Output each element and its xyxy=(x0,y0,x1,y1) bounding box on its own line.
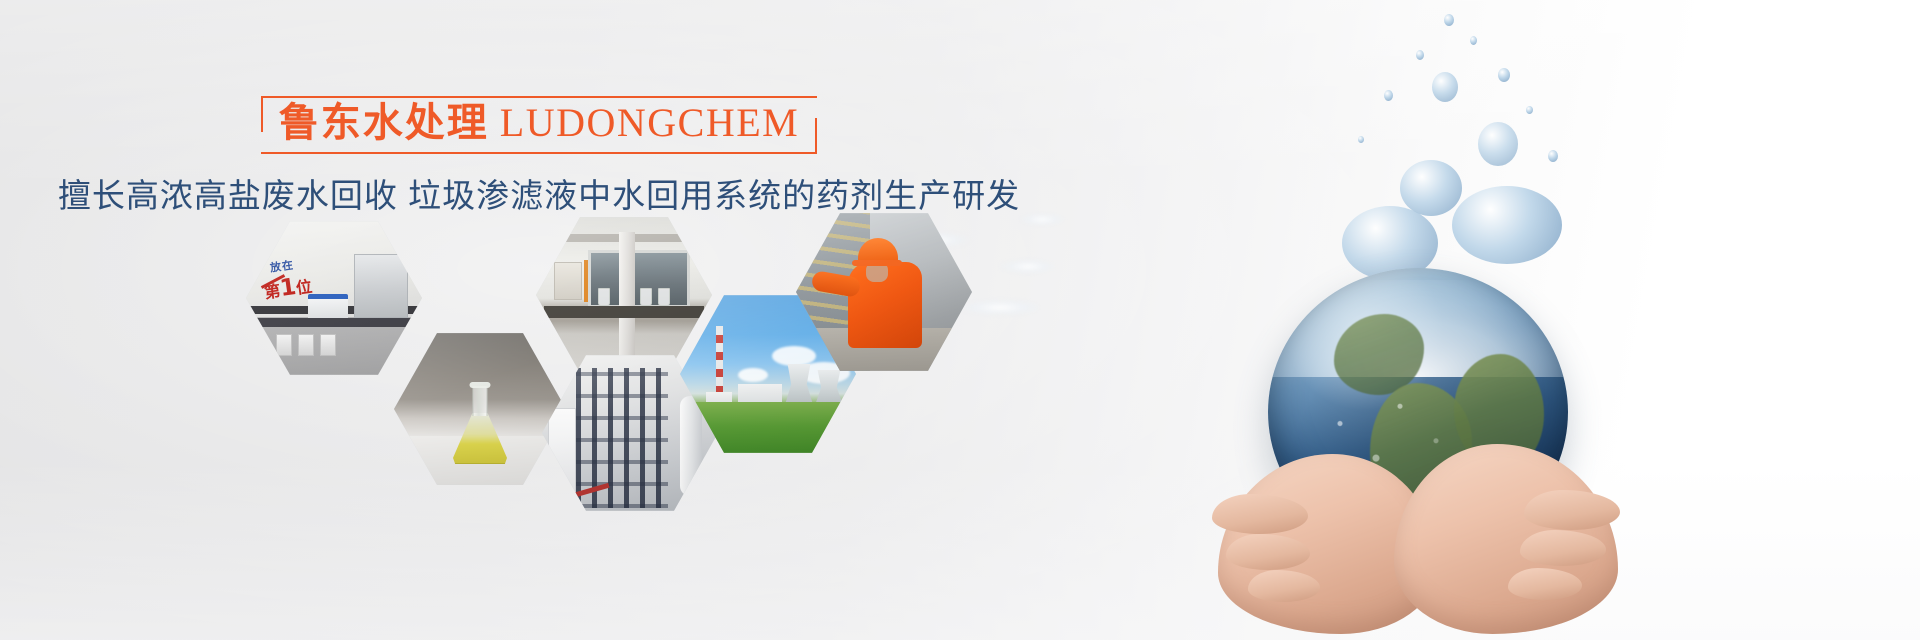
water-droplet xyxy=(1548,150,1558,162)
water-droplet xyxy=(1470,36,1477,45)
title-rule-top xyxy=(285,96,817,98)
cupped-hands xyxy=(1208,430,1628,640)
water-droplet xyxy=(1384,90,1393,101)
lab-bench-photo xyxy=(536,214,712,376)
flask-lip xyxy=(470,382,491,388)
water-droplet xyxy=(1498,68,1510,82)
banner-subtitle: 擅长高浓高盐废水回收 垃圾渗滤液中水回用系统的药剂生产研发 xyxy=(0,176,1078,216)
hexagon-photo-cluster: 放在 第1位 xyxy=(240,218,960,518)
lab-cabinet xyxy=(354,254,408,318)
hero-banner: 鲁东水处理 LUDONGCHEM 擅长高浓高盐废水回收 垃圾渗滤液中水回用系统的… xyxy=(0,0,1920,640)
water-droplet xyxy=(1358,136,1364,143)
lab-cabinet xyxy=(554,262,582,300)
smokestack xyxy=(716,326,723,392)
water-droplet xyxy=(1416,50,1424,60)
lab-stand xyxy=(584,260,588,302)
water-droplet xyxy=(1526,106,1533,114)
lab-jar xyxy=(276,334,292,356)
lab-glassware xyxy=(658,288,670,306)
title-rule-bottom xyxy=(261,152,793,154)
water-droplet xyxy=(1432,72,1458,102)
helmet-brim xyxy=(852,260,902,266)
brand-title-frame: 鲁东水处理 LUDONGCHEM xyxy=(261,96,817,154)
flask-photo xyxy=(394,330,566,488)
steam-cloud xyxy=(738,368,768,382)
hex-photo-lab-room: 放在 第1位 xyxy=(246,218,422,378)
brand-title-en: LUDONGCHEM xyxy=(500,100,799,145)
control-panel xyxy=(548,408,576,496)
lab-post xyxy=(619,232,635,360)
brand-title-cn: 鲁东水处理 xyxy=(279,100,489,145)
wall-slogan-main: 第1位 xyxy=(262,272,313,304)
finger xyxy=(1524,490,1620,530)
hex-photo-lab-bench xyxy=(536,214,712,376)
brand-title: 鲁东水处理 LUDONGCHEM xyxy=(279,102,799,144)
wall-slogan-top: 放在 xyxy=(269,256,295,275)
water-droplet xyxy=(1478,122,1518,166)
flask-neck xyxy=(473,386,488,416)
water-globe-scene xyxy=(1160,0,1860,640)
lab-glassware xyxy=(598,288,610,306)
water-droplet xyxy=(1452,186,1562,264)
lab-jar xyxy=(298,334,314,356)
headline-block: 鲁东水处理 LUDONGCHEM 擅长高浓高盐废水回收 垃圾渗滤液中水回用系统的… xyxy=(0,96,1078,216)
water-droplet xyxy=(1400,160,1462,216)
lab-jar xyxy=(320,334,336,356)
hex-photo-flask-sample xyxy=(394,330,566,488)
lab-benchtop xyxy=(544,306,704,318)
water-droplet xyxy=(1444,14,1454,26)
water-splash xyxy=(1312,10,1612,310)
lab-room-photo: 放在 第1位 xyxy=(246,218,422,378)
lab-bench xyxy=(252,318,416,327)
pressure-vessel xyxy=(680,396,702,496)
lab-glassware xyxy=(640,288,652,306)
